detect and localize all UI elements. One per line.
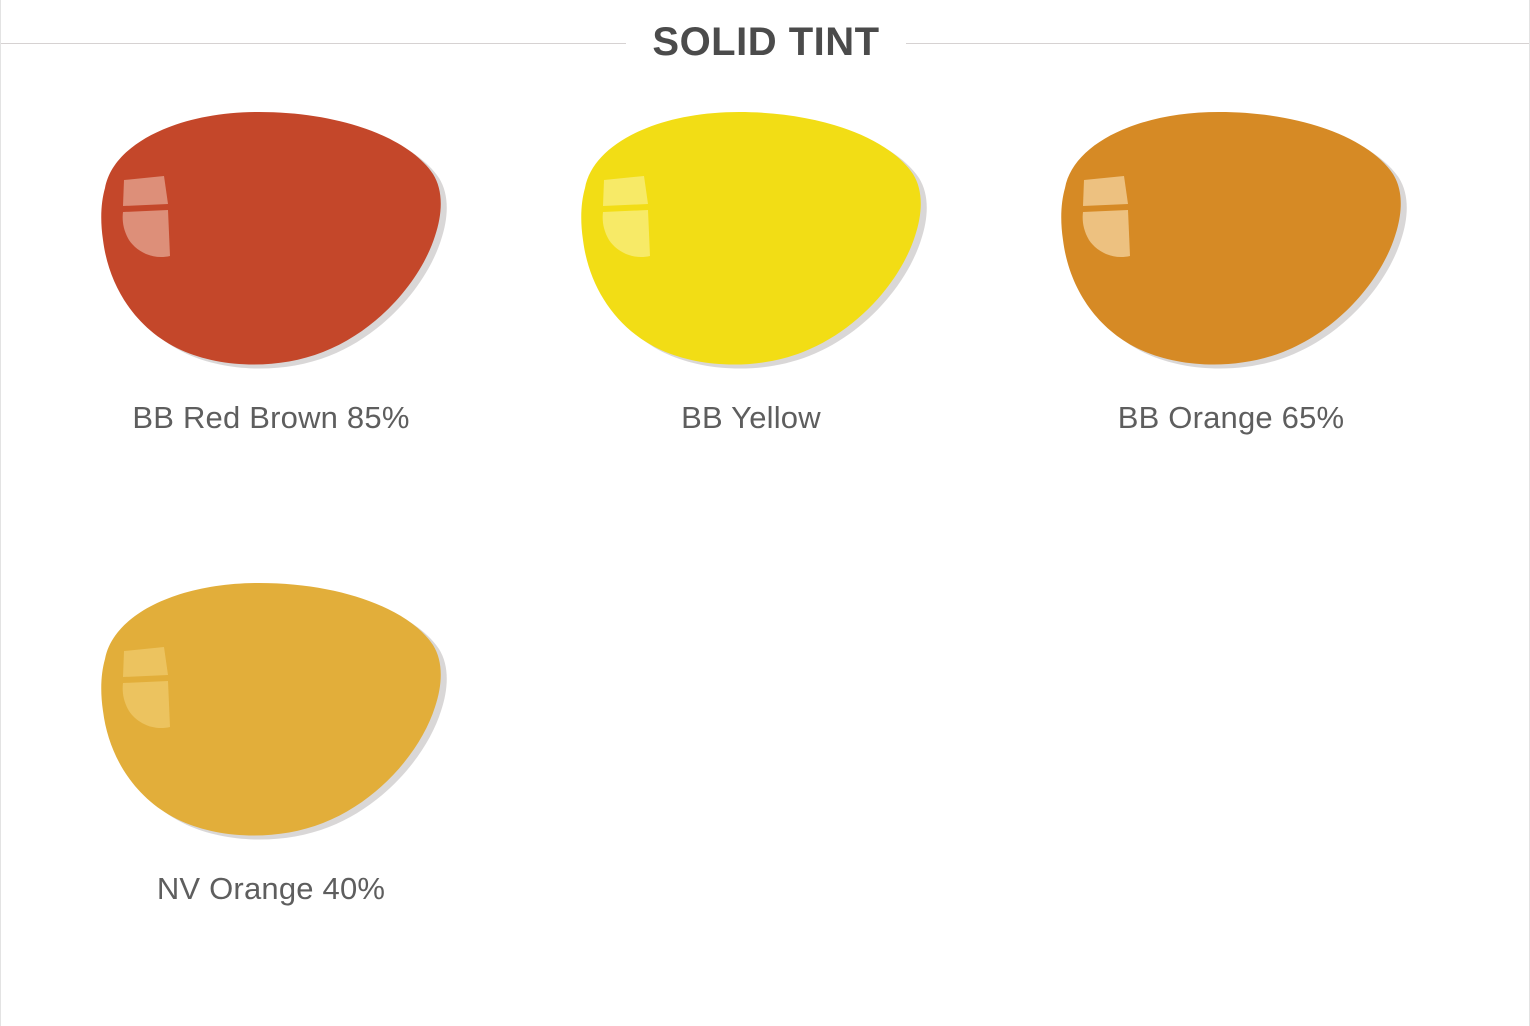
sunglass-lens-icon [91, 571, 451, 843]
header-rule-left [1, 43, 626, 44]
swatch-grid: BB Red Brown 85% [1, 84, 1530, 1026]
swatch-item[interactable]: BB Red Brown 85% [31, 84, 511, 555]
lens-highlight-upper [123, 176, 168, 206]
lens-preview[interactable] [1051, 100, 1411, 372]
lens-preview[interactable] [91, 100, 451, 372]
header-rule-right [906, 43, 1530, 44]
swatch-label: BB Yellow [681, 400, 821, 436]
lens-preview[interactable] [91, 571, 451, 843]
sunglass-lens-icon [91, 100, 451, 372]
sunglass-lens-icon [1051, 100, 1411, 372]
lens-highlight-upper [1083, 176, 1128, 206]
lens-highlight-upper [603, 176, 648, 206]
swatch-item[interactable]: BB Yellow [511, 84, 991, 555]
page-title: SOLID TINT [626, 22, 905, 62]
sunglass-lens-icon [571, 100, 931, 372]
swatch-label: BB Red Brown 85% [132, 400, 409, 436]
swatch-label: BB Orange 65% [1118, 400, 1345, 436]
solid-tint-panel: SOLID TINT [0, 0, 1530, 1026]
panel-header: SOLID TINT [1, 0, 1530, 84]
lens-highlight-upper [123, 647, 168, 677]
lens-preview[interactable] [571, 100, 931, 372]
swatch-label: NV Orange 40% [157, 871, 385, 907]
swatch-item[interactable]: NV Orange 40% [31, 555, 511, 1026]
swatch-item[interactable]: BB Orange 65% [991, 84, 1471, 555]
